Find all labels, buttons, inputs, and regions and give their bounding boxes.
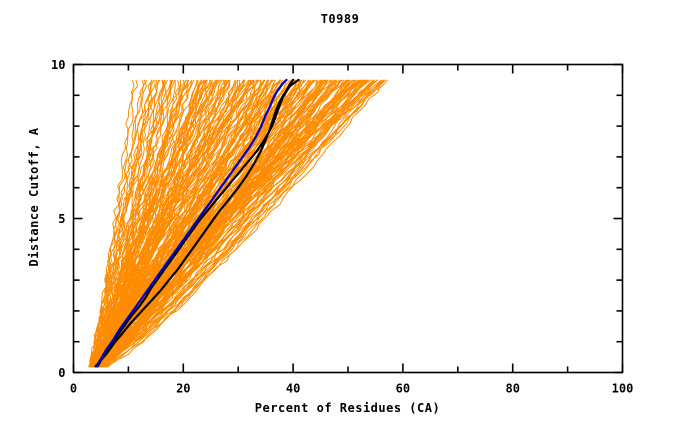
svg-text:40: 40: [286, 382, 300, 396]
svg-text:0: 0: [58, 366, 65, 380]
plot-area: 0204060801000510: [0, 0, 680, 440]
svg-text:5: 5: [58, 212, 65, 226]
svg-text:80: 80: [505, 382, 519, 396]
svg-text:20: 20: [176, 382, 190, 396]
svg-text:60: 60: [396, 382, 410, 396]
svg-text:100: 100: [612, 382, 634, 396]
svg-text:10: 10: [51, 58, 65, 72]
chart-figure: T0989 Distance Cutoff, A Percent of Resi…: [0, 0, 680, 440]
ensemble-curves: [89, 80, 388, 367]
svg-text:0: 0: [70, 382, 77, 396]
